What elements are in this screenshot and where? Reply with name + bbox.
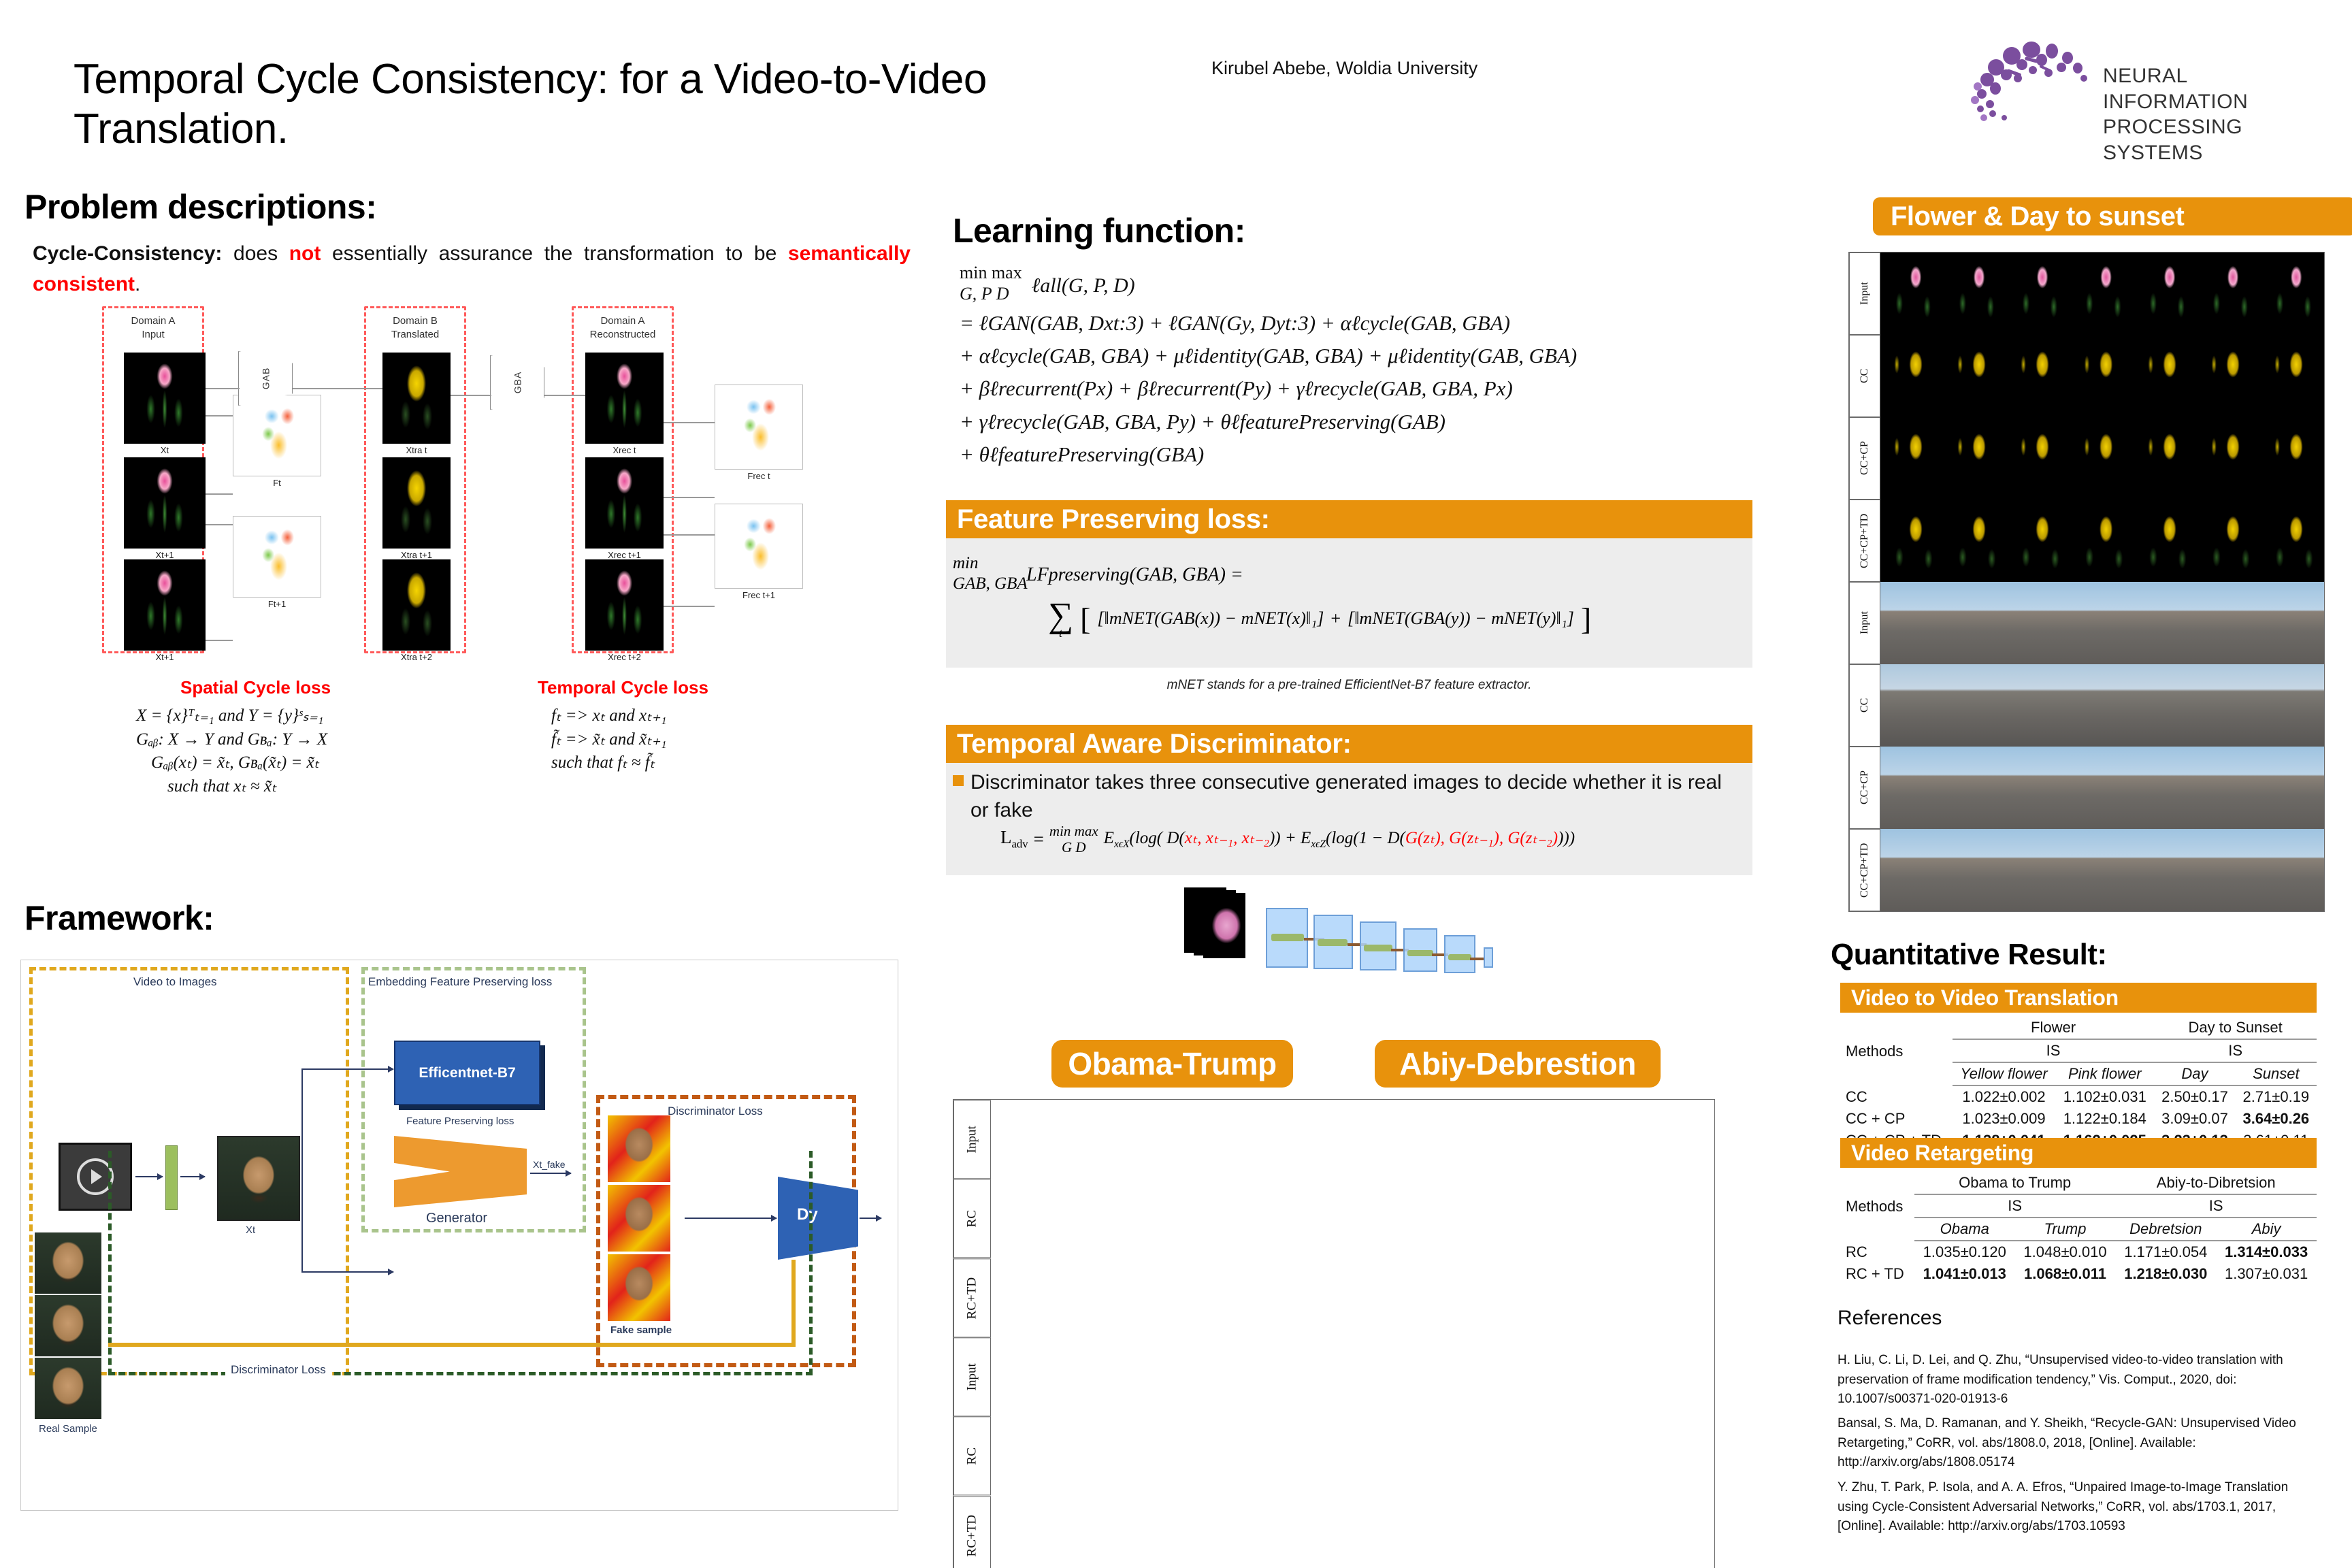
f-cell-1-2 — [1944, 335, 2007, 417]
flower-row-cells-1 — [1880, 335, 2324, 417]
fp-plus: + — [1330, 608, 1341, 629]
row-cells-4 — [991, 1337, 1714, 1416]
table-row: RC — [953, 1416, 1714, 1495]
temporal-discriminator-panel: Discriminator takes three consecutive ge… — [946, 763, 1752, 875]
fp-term-1: [‖mNET(GAB(x)) − mNET(x)‖₁] — [1097, 608, 1324, 629]
framework-heading: Framework: — [24, 898, 214, 938]
feedback-line-horizontal — [108, 1343, 796, 1347]
wire-12 — [664, 606, 715, 607]
col1-title: Domain A — [109, 314, 197, 328]
row-label-rc-2: RC — [953, 1416, 991, 1495]
learning-eq-2: + αℓcycle(GAB, GBA) + μℓidentity(GAB, GB… — [960, 340, 1735, 372]
wire-8 — [206, 640, 233, 641]
filter-2 — [1318, 939, 1347, 946]
wire-9 — [664, 422, 715, 423]
video-retargeting-table: Methods Obama to Trump Abiy-to-Dibretsio… — [1840, 1172, 2317, 1285]
ladv-minmax-bottom: G D — [1049, 839, 1098, 855]
f-cell-2-7 — [2261, 417, 2324, 500]
f-cell-6-6 — [2198, 747, 2261, 829]
f-cell-3-6 — [2198, 500, 2261, 582]
f-cell-7-4 — [2070, 829, 2134, 911]
quantitative-result-heading: Quantitative Result: — [1831, 938, 2107, 972]
ladv-e2-sub: xϵZ — [1311, 838, 1326, 850]
learning-eq-5: + θℓfeaturePreserving(GBA) — [960, 438, 1735, 471]
caption-xt: Xt — [124, 445, 206, 455]
t1-group-flower: Flower — [1953, 1017, 2155, 1039]
t2-r1-v2: 1.048±0.010 — [2015, 1241, 2116, 1263]
wire-3 — [451, 395, 491, 396]
t1-r2-v3: 3.09±0.07 — [2154, 1108, 2235, 1130]
table-row: RC+TD — [953, 1258, 1714, 1337]
discriminator-loss-path — [108, 1151, 813, 1375]
col3-title: Domain A — [578, 314, 667, 328]
temporal-eq-1: fₜ => xₜ and xₜ₊₁ — [551, 704, 810, 728]
domain-a-input-label: Domain A Input — [109, 314, 197, 342]
neurips-dots-icon — [1967, 37, 2103, 126]
wire-7 — [206, 524, 233, 525]
flow-map-ft — [233, 395, 321, 476]
wire-10 — [664, 497, 715, 498]
ladv-b4: (log(1 − D( — [1326, 829, 1405, 847]
bullet-icon — [953, 775, 964, 786]
f-cell-3-2 — [1944, 500, 2007, 582]
ladv-e1-sub: xϵX — [1114, 838, 1130, 850]
flower-sunset-grid: Input CC CC+CP — [1848, 252, 2325, 912]
wire-2 — [293, 388, 382, 389]
learning-function-heading: Learning function: — [953, 211, 1245, 250]
table-row: RC 1.035±0.120 1.048±0.010 1.171±0.054 1… — [1840, 1241, 2317, 1263]
framework-diagram: Video to Images Embedding Feature Preser… — [20, 960, 898, 1511]
flower-row-label-2: CC+CP — [1849, 417, 1880, 500]
translated-image-t2 — [382, 559, 451, 651]
domain-b-translated-label: Domain B Translated — [371, 314, 459, 342]
f-cell-1-3 — [2007, 335, 2070, 417]
learning-eq-1: = ℓGAN(GAB, Dxt:3) + ℓGAN(Gy, Dyt:3) + α… — [960, 307, 1735, 340]
f-cell-4-2 — [1944, 582, 2007, 664]
efficientnet-label: Efficentnet-B7 — [419, 1065, 515, 1081]
f-cell-0-6 — [2198, 252, 2261, 335]
f-cell-6-1 — [1880, 747, 1944, 829]
video-to-video-ribbon: Video to Video Translation — [1840, 983, 2317, 1013]
filter-4 — [1407, 950, 1433, 956]
row-cells-1 — [991, 1100, 1714, 1179]
minmax-top: min max — [960, 262, 1022, 283]
generator-gba-block: GBA — [490, 355, 544, 410]
t1-group-sunset: Day to Sunset — [2154, 1017, 2317, 1039]
prob-text-b: essentially assurance the transformation… — [321, 242, 788, 265]
f-cell-4-6 — [2198, 582, 2261, 664]
flower-row-cells-6 — [1880, 747, 2324, 829]
f-cell-0-4 — [2070, 252, 2134, 335]
ladv-eq: = — [1034, 829, 1044, 850]
table-row: CC+CP — [1849, 747, 2324, 829]
t1-r2-v4: 3.64±0.26 — [2236, 1108, 2317, 1130]
t2-sub-2: Trump — [2015, 1218, 2116, 1241]
t2-r2-v1: 1.041±0.013 — [1914, 1263, 2015, 1285]
caption-xt1: Xt+1 — [124, 550, 206, 560]
temporal-eq-3: such that fₜ ≈ f̃ₜ — [551, 751, 810, 775]
prob-text-c: . — [135, 273, 140, 295]
table-row: Methods Obama to Trump Abiy-to-Dibretsio… — [1840, 1172, 2317, 1194]
feature-preserving-loss-ribbon: Feature Preserving loss: — [946, 500, 1752, 538]
filter-1 — [1271, 934, 1304, 941]
minmax-operator: min max G, P D — [960, 262, 1022, 304]
t1-r1-method: CC — [1840, 1085, 1953, 1108]
arrow-to-efficientnet — [301, 1068, 393, 1070]
real-sample-2 — [35, 1295, 101, 1356]
obama-trump-pill: Obama-Trump — [1051, 1040, 1293, 1088]
f-cell-6-5 — [2134, 747, 2198, 829]
spatial-cycle-loss-heading: Spatial Cycle loss — [180, 677, 331, 698]
spatial-eq-4: such that xₜ ≈ x̃̃ₜ — [136, 775, 517, 799]
table-row: CC+CP+TD — [1849, 829, 2324, 911]
row-cells-2 — [991, 1179, 1714, 1258]
domain-a-reconstructed-label: Domain A Reconstructed — [578, 314, 667, 342]
ladv-b2: (log( D( — [1130, 829, 1185, 847]
ladv-minmax: min max G D — [1049, 823, 1098, 855]
table-row: Input — [1849, 582, 2324, 664]
t1-r2-method: CC + CP — [1840, 1108, 1953, 1130]
ladv-red-1: xₜ, xₜ₋₁, xₜ₋₂ — [1185, 829, 1269, 847]
caption-xtra-t: Xtra t — [382, 445, 451, 455]
f-cell-0-1 — [1880, 252, 1944, 335]
f-cell-2-5 — [2134, 417, 2198, 500]
real-sample-3 — [35, 1358, 101, 1419]
f-cell-3-3 — [2007, 500, 2070, 582]
minmax-bottom: G, P D — [960, 283, 1022, 304]
recon-image-t1 — [585, 457, 664, 549]
feature-preserving-loss-label: Feature Preserving loss — [406, 1115, 514, 1127]
ladv-body: ExϵX(log( D(xₜ, xₜ₋₁, xₜ₋₂)) + ExϵZ(log(… — [1104, 828, 1575, 851]
t2-sub-1: Obama — [1914, 1218, 2015, 1241]
fp-bracket-close: ] — [1581, 601, 1591, 637]
ladv-minmax-top: min max — [1049, 823, 1098, 839]
flower-row-cells-3 — [1880, 500, 2324, 582]
table-row: RC — [953, 1179, 1714, 1258]
flower-row-label-5: CC — [1849, 664, 1880, 747]
table-row: Input — [1849, 252, 2324, 335]
t2-r1-v1: 1.035±0.120 — [1914, 1241, 2015, 1263]
table-row: CC — [1849, 664, 2324, 747]
f-cell-2-6 — [2198, 417, 2261, 500]
logo-line-2: PROCESSING SYSTEMS — [2103, 114, 2307, 165]
neurips-logo-text: NEURAL INFORMATION PROCESSING SYSTEMS — [2103, 63, 2307, 165]
caption-frec-t: Frec t — [715, 471, 803, 481]
t1-sub-3: Day — [2154, 1062, 2235, 1085]
mnet-note: mNET stands for a pre-trained EfficientN… — [946, 678, 1752, 693]
f-cell-4-1 — [1880, 582, 1944, 664]
flower-day-sunset-pill: Flower & Day to sunset — [1873, 197, 2352, 235]
wire-5 — [206, 415, 233, 416]
ladv-lhs: Ladv — [1000, 827, 1028, 851]
flower-row-label-6: CC+CP — [1849, 747, 1880, 829]
connection-5 — [1470, 958, 1485, 960]
prob-emph-not: not — [289, 242, 321, 265]
discriminator-bullet-text: Discriminator takes three consecutive ge… — [970, 768, 1739, 825]
real-sample-1 — [35, 1232, 101, 1294]
f-cell-6-2 — [1944, 747, 2007, 829]
input-image-xt2 — [124, 559, 206, 651]
ladv-b3: )) + E — [1269, 829, 1311, 847]
f-cell-2-2 — [1944, 417, 2007, 500]
f-cell-6-7 — [2261, 747, 2324, 829]
gab-label: GAB — [260, 367, 271, 390]
video-to-images-label: Video to Images — [133, 975, 217, 989]
flower-row-label-4: Input — [1849, 582, 1880, 664]
t1-metric-1: IS — [1953, 1039, 2155, 1062]
caption-xrec-t: Xrec t — [585, 445, 664, 455]
temporal-cycle-loss-heading: Temporal Cycle loss — [538, 677, 708, 698]
col1-sub: Input — [109, 328, 197, 342]
row-label-input-2: Input — [953, 1337, 991, 1416]
fp-term-2: [‖mNET(GBA(y)) − mNET(y)‖₁] — [1347, 608, 1574, 629]
flower-row-label-0: Input — [1849, 252, 1880, 335]
learning-eq-3: + βℓrecurrent(Px) + βℓrecurrent(Py) + γℓ… — [960, 372, 1735, 405]
flower-row-label-3: CC+CP+TD — [1849, 500, 1880, 582]
f-cell-3-5 — [2134, 500, 2198, 582]
f-cell-5-1 — [1880, 664, 1944, 747]
minmax-row: min max G, P D ℓall(G, P, D) — [960, 262, 1735, 304]
caption-xrec-t2: Xrec t+2 — [585, 652, 664, 662]
row-cells-6 — [991, 1496, 1714, 1568]
ladv-e1: E — [1104, 829, 1114, 847]
f-cell-7-3 — [2007, 829, 2070, 911]
f-cell-5-2 — [1944, 664, 2007, 747]
fp-sum-row: ∑ t [ [‖mNET(GAB(x)) − mNET(x)‖₁] + [‖mN… — [1048, 598, 1591, 639]
f-cell-1-4 — [2070, 335, 2134, 417]
t1-r2-v2: 1.122±0.184 — [2055, 1108, 2154, 1130]
authors: Kirubel Abebe, Woldia University — [1211, 58, 1688, 79]
caption-xtra-t2: Xtra t+2 — [382, 652, 451, 662]
table-row: CC+CP — [1849, 417, 2324, 500]
gba-label: GBA — [512, 372, 523, 394]
row-label-rctd-1: RC+TD — [953, 1258, 991, 1337]
f-cell-3-4 — [2070, 500, 2134, 582]
f-cell-0-3 — [2007, 252, 2070, 335]
fp-min-operator: min GAB, GBA — [953, 553, 1028, 594]
flower-row-cells-7 — [1880, 829, 2324, 911]
cycle-consistency-term: Cycle-Consistency: — [33, 242, 222, 265]
wire-6 — [206, 493, 233, 495]
filter-5 — [1448, 954, 1471, 960]
f-cell-4-3 — [2007, 582, 2070, 664]
wire-1 — [206, 388, 240, 389]
f-cell-3-1 — [1880, 500, 1944, 582]
row-label-input-1: Input — [953, 1100, 991, 1179]
feature-preserving-panel: min GAB, GBA LFpreserving(GAB, GBA) = ∑ … — [946, 538, 1752, 668]
learning-eq-4: + γℓrecycle(GAB, GBA, Py) + θℓfeaturePre… — [960, 406, 1735, 438]
discriminator-loss-top-label: Discriminator Loss — [668, 1105, 763, 1118]
page-title: Temporal Cycle Consistency: for a Video-… — [73, 54, 1135, 154]
f-cell-6-4 — [2070, 747, 2134, 829]
efficientnet-box: Efficentnet-B7 — [394, 1041, 540, 1105]
translated-image-t — [382, 353, 451, 444]
flower-row-cells-4 — [1880, 582, 2324, 664]
discriminator-network-sketch — [1184, 885, 1538, 1007]
caption-ft1: Ft+1 — [233, 599, 321, 609]
input-frame-3 — [1203, 893, 1245, 958]
t2-metric-2: IS — [2115, 1194, 2317, 1218]
temporal-eq-2: f̃ₜ => x̃ₜ and x̃ₜ₊₁ — [551, 728, 810, 752]
f-cell-5-7 — [2261, 664, 2324, 747]
caption-frec-t1: Frec t+1 — [715, 590, 803, 600]
table-row: Input — [953, 1337, 1714, 1416]
adv-loss-equation: Ladv = min max G D ExϵX(log( D(xₜ, xₜ₋₁,… — [1000, 823, 1575, 855]
t1-r2-v1: 1.023±0.009 — [1953, 1108, 2056, 1130]
t2-r1-v4: 1.314±0.033 — [2216, 1241, 2317, 1263]
filter-3 — [1364, 945, 1392, 951]
ladv-l: L — [1000, 827, 1012, 847]
fp-sum-sign: ∑ t — [1048, 598, 1073, 639]
f-cell-1-1 — [1880, 335, 1944, 417]
prob-text-a: does — [222, 242, 289, 265]
table-row: Input — [953, 1100, 1714, 1179]
flower-row-cells-2 — [1880, 417, 2324, 500]
table-row: RC+TD — [953, 1496, 1714, 1568]
t2-r2-v3: 1.218±0.030 — [2115, 1263, 2216, 1285]
embedding-loss-label: Embedding Feature Preserving loss — [368, 975, 552, 989]
f-cell-0-2 — [1944, 252, 2007, 335]
t1-r1-v2: 1.102±0.031 — [2055, 1085, 2154, 1108]
col2-title: Domain B — [371, 314, 459, 328]
f-cell-1-5 — [2134, 335, 2198, 417]
t2-group-abiy: Abiy-to-Dibretsion — [2115, 1172, 2317, 1194]
col3-sub: Reconstructed — [578, 328, 667, 342]
col2-sub: Translated — [371, 328, 459, 342]
t2-r2-v4: 1.307±0.031 — [2216, 1263, 2317, 1285]
flow-map-frec-t — [715, 385, 803, 470]
spatial-eq-1: X = {x}ᵀₜ₌₁ and Y = {y}ˢₛ₌₁ — [136, 704, 517, 728]
reference-item-3: Y. Zhu, T. Park, P. Isola, and A. A. Efr… — [1837, 1478, 2314, 1537]
recon-image-t — [585, 353, 664, 444]
f-cell-4-5 — [2134, 582, 2198, 664]
real-sample-label: Real Sample — [39, 1423, 97, 1435]
objective-label: ℓall(G, P, D) — [1032, 262, 1135, 297]
f-cell-1-6 — [2198, 335, 2261, 417]
caption-xt2: Xt+1 — [124, 652, 206, 662]
f-cell-4-4 — [2070, 582, 2134, 664]
problem-description-text: Cycle-Consistency: does not essentially … — [33, 238, 911, 299]
f-cell-5-3 — [2007, 664, 2070, 747]
input-image-xt1 — [124, 457, 206, 549]
cycle-consistency-diagram: Domain A Input Domain B Translated Domai… — [102, 299, 905, 660]
t2-metric-1: IS — [1914, 1194, 2116, 1218]
t1-metric-2: IS — [2154, 1039, 2317, 1062]
t1-methods-label: Methods — [1840, 1017, 1953, 1085]
caption-ft: Ft — [233, 478, 321, 488]
t2-r1-v3: 1.171±0.054 — [2115, 1241, 2216, 1263]
flower-row-label-1: CC — [1849, 335, 1880, 417]
reference-item-1: H. Liu, C. Li, D. Lei, and Q. Zhu, “Unsu… — [1837, 1351, 2314, 1409]
reference-item-2: Bansal, S. Ma, D. Ramanan, and Y. Sheikh… — [1837, 1414, 2314, 1473]
wire-11 — [664, 534, 715, 536]
arrow-dy-out — [860, 1218, 881, 1219]
table-row: RC + TD 1.041±0.013 1.068±0.011 1.218±0.… — [1840, 1263, 2317, 1285]
row-cells-5 — [991, 1416, 1714, 1495]
spatial-eq-2: Gₐᵦ: X → Y and Gʙₐ: Y → X — [136, 728, 517, 752]
row-label-rc-1: RC — [953, 1179, 991, 1258]
recon-image-t2 — [585, 559, 664, 651]
video-retargeting-ribbon: Video Retargeting — [1840, 1138, 2317, 1168]
flower-row-label-7: CC+CP+TD — [1849, 829, 1880, 911]
translated-image-t1 — [382, 457, 451, 549]
f-cell-2-3 — [2007, 417, 2070, 500]
f-cell-1-7 — [2261, 335, 2324, 417]
t2-methods-label: Methods — [1840, 1172, 1914, 1241]
t1-r1-v3: 2.50±0.17 — [2154, 1085, 2235, 1108]
t1-r1-v1: 1.022±0.002 — [1953, 1085, 2056, 1108]
f-cell-7-6 — [2198, 829, 2261, 911]
t2-group-obama: Obama to Trump — [1914, 1172, 2116, 1194]
spatial-eq-3: Gₐᵦ(xₜ) = x̃ₜ, Gʙₐ(x̃ₜ) = x̃̃ₜ — [136, 751, 517, 775]
f-cell-5-4 — [2070, 664, 2134, 747]
temporal-aware-discriminator-ribbon: Temporal Aware Discriminator: — [946, 725, 1752, 763]
spatial-cycle-loss-equations: X = {x}ᵀₜ₌₁ and Y = {y}ˢₛ₌₁ Gₐᵦ: X → Y a… — [136, 704, 517, 798]
ladv-b5: ))) — [1558, 829, 1575, 847]
abiy-debrestion-pill: Abiy-Debrestion — [1375, 1040, 1661, 1088]
t2-sub-3: Debretsion — [2115, 1218, 2216, 1241]
ladv-red-2: G(zₜ), G(zₜ₋₁), G(zₜ₋₂) — [1405, 829, 1558, 847]
discriminator-loss-bottom-label: Discriminator Loss — [225, 1363, 331, 1377]
fp-min-label: min — [953, 553, 1028, 574]
table-row: Methods Flower Day to Sunset — [1840, 1017, 2317, 1039]
ladv-sub: adv — [1012, 838, 1028, 851]
f-cell-4-7 — [2261, 582, 2324, 664]
f-cell-7-1 — [1880, 829, 1944, 911]
video-to-video-table: Methods Flower Day to Sunset IS IS Yello… — [1840, 1017, 2317, 1151]
t2-r2-method: RC + TD — [1840, 1263, 1914, 1285]
row-cells-3 — [991, 1258, 1714, 1337]
problem-descriptions-heading: Problem descriptions: — [24, 187, 376, 227]
f-cell-3-7 — [2261, 500, 2324, 582]
f-cell-2-4 — [2070, 417, 2134, 500]
caption-xtra-t1: Xtra t+1 — [382, 550, 451, 560]
flow-map-frec-t1 — [715, 504, 803, 589]
neurips-logo: NEURAL INFORMATION PROCESSING SYSTEMS — [1967, 37, 2307, 126]
t1-sub-2: Pink flower — [2055, 1062, 2154, 1085]
flower-row-cells-0 — [1880, 252, 2324, 335]
feedback-line-vertical — [791, 1260, 796, 1347]
t1-sub-1: Yellow flower — [1953, 1062, 2056, 1085]
flower-row-cells-5 — [1880, 664, 2324, 747]
t2-r1-method: RC — [1840, 1241, 1914, 1263]
f-cell-5-6 — [2198, 664, 2261, 747]
fp-min-sub: GAB, GBA — [953, 574, 1028, 594]
flow-map-ft1 — [233, 516, 321, 598]
wire-4 — [544, 395, 585, 396]
f-cell-0-7 — [2261, 252, 2324, 335]
row-label-rctd-2: RC+TD — [953, 1496, 991, 1568]
f-cell-7-7 — [2261, 829, 2324, 911]
table-row: CC 1.022±0.002 1.102±0.031 2.50±0.17 2.7… — [1840, 1085, 2317, 1108]
f-cell-7-2 — [1944, 829, 2007, 911]
f-cell-7-5 — [2134, 829, 2198, 911]
table-row: CC + CP 1.023±0.009 1.122±0.184 3.09±0.0… — [1840, 1108, 2317, 1130]
t1-r1-v4: 2.71±0.19 — [2236, 1085, 2317, 1108]
temporal-cycle-loss-equations: fₜ => xₜ and xₜ₊₁ f̃ₜ => x̃ₜ and x̃ₜ₊₁ s… — [551, 704, 810, 775]
t2-sub-4: Abiy — [2216, 1218, 2317, 1241]
table-row: CC — [1849, 335, 2324, 417]
f-cell-2-1 — [1880, 417, 1944, 500]
f-cell-6-3 — [2007, 747, 2070, 829]
caption-xrec-t1: Xrec t+1 — [585, 550, 664, 560]
poster-canvas: Temporal Cycle Consistency: for a Video-… — [0, 0, 2352, 1568]
learning-function-equations: min max G, P D ℓall(G, P, D) = ℓGAN(GAB,… — [960, 262, 1735, 471]
fp-lhs: LFpreserving(GAB, GBA) = — [1026, 564, 1243, 586]
input-image-xt — [124, 353, 206, 444]
table-row: CC+CP+TD — [1849, 500, 2324, 582]
t2-r2-v2: 1.068±0.011 — [2015, 1263, 2116, 1285]
